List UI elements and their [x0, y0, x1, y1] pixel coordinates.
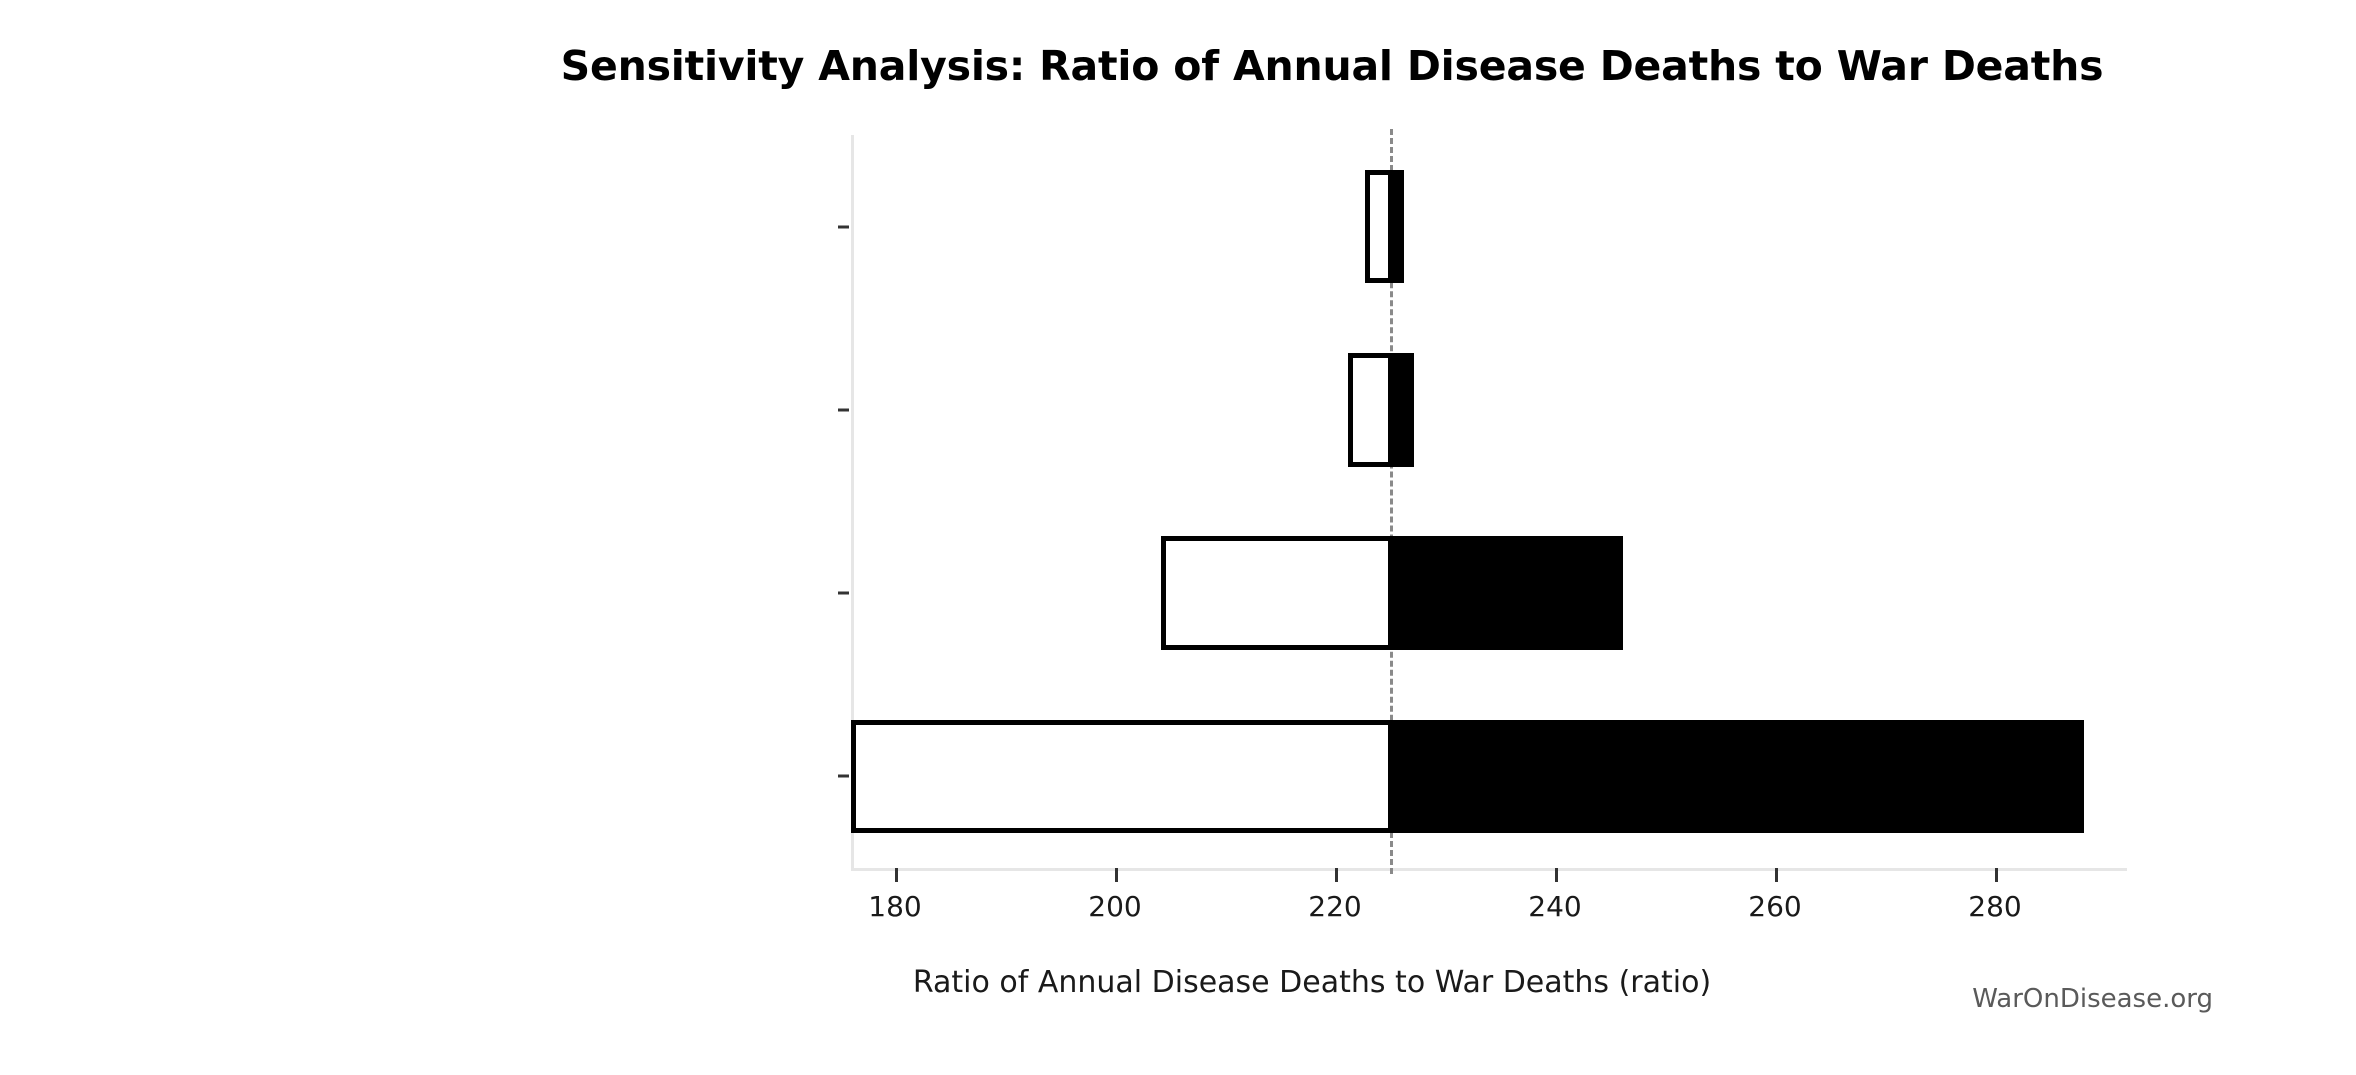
y-axis-tick	[838, 225, 849, 228]
x-axis-tick-label: 200	[1088, 890, 1141, 923]
y-axis-tick	[838, 775, 849, 778]
bar-segment-high	[1390, 536, 1623, 650]
bar-group	[851, 720, 2127, 834]
plot-area: 180200220240260280	[851, 135, 2127, 868]
x-axis-title-text: Ratio of Annual Disease Deaths to War De…	[913, 965, 1711, 1000]
watermark: WarOnDisease.org	[1972, 984, 2213, 1014]
bar-segment-low	[1348, 353, 1393, 467]
x-axis-tick	[1775, 868, 1778, 882]
x-axis-tick-label: 260	[1748, 890, 1801, 923]
bar-segment-low	[1161, 536, 1393, 650]
x-axis-tick	[1335, 868, 1338, 882]
x-axis-tick	[895, 868, 898, 882]
x-axis-tick-label: 240	[1528, 890, 1581, 923]
bar-group	[851, 536, 2127, 650]
x-axis-tick	[1555, 868, 1558, 882]
x-axis-tick	[1115, 868, 1118, 882]
bar-segment-high	[1390, 170, 1404, 284]
bar-group	[851, 170, 2127, 284]
bar-group	[851, 353, 2127, 467]
sensitivity-tornado-chart: Sensitivity Analysis: Ratio of Annual Di…	[0, 0, 2356, 1075]
bar-segment-low	[1365, 170, 1393, 284]
x-axis-tick-label: 220	[1308, 890, 1361, 923]
x-axis-tick-label: 280	[1968, 890, 2021, 923]
y-axis-tick	[838, 592, 849, 595]
x-axis-spine	[851, 868, 2127, 871]
x-axis-tick-label: 180	[868, 890, 921, 923]
chart-title-text: Sensitivity Analysis: Ratio of Annual Di…	[561, 42, 2104, 90]
bar-segment-high	[1390, 353, 1414, 467]
bar-segment-low	[851, 720, 1393, 834]
chart-title: Sensitivity Analysis: Ratio of Annual Di…	[0, 42, 2356, 90]
y-axis-tick	[838, 408, 849, 411]
bar-segment-high	[1390, 720, 2084, 834]
x-axis-tick	[1995, 868, 1998, 882]
